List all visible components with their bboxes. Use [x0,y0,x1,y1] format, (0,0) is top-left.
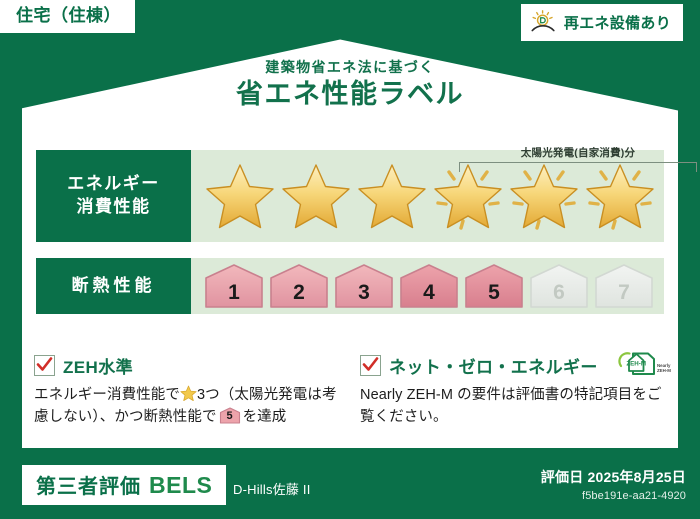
insulation-level-badge: 6 [528,263,590,309]
third-party-evaluation-label: 第三者評価 [36,470,141,499]
evaluation-info: 評価日 2025年8月25日 f5be191e-aa21-4920 [541,467,686,502]
zeh-body-part3: を達成 [243,409,287,425]
insulation-level-inline-badge: 5 [219,407,241,424]
insulation-level-value: 5 [463,282,525,303]
energy-performance-row: エネルギー 消費性能 太陽光発電(自家消費)分 [36,150,664,242]
performance-rows: エネルギー 消費性能 太陽光発電(自家消費)分 [36,150,664,314]
star-icon [180,385,197,402]
insulation-level-value: 7 [593,282,655,303]
insulation-rating-area: 1 2 3 4 5 [191,258,664,314]
solar-bracket [459,162,697,172]
page-title: 省エネ性能ラベル [0,79,700,110]
checkmark-icon [34,355,55,376]
energy-label-line1: エネルギー [67,173,160,196]
bels-certification-box: 第三者評価 BELS [22,465,226,505]
insulation-levels: 1 2 3 4 5 [191,263,655,309]
solar-sun-icon [530,9,557,35]
net-zero-energy-note: ネット・ゼロ・エネルギー ZEH-M Nearly ZEH-M Nearly Z… [360,352,668,429]
insulation-level-badge: 1 [203,263,265,309]
solar-annotation-label: 太陽光発電(自家消費)分 [459,148,697,159]
energy-label-line2: 消費性能 [77,196,151,219]
insulation-level-value: 2 [268,282,330,303]
insulation-level-value: 1 [203,282,265,303]
insulation-level-badge: 7 [593,263,655,309]
solar-generation-annotation: 太陽光発電(自家消費)分 [459,148,697,172]
evaluation-id: f5be191e-aa21-4920 [541,490,686,502]
zeh-note-title: ZEH水準 [63,353,133,378]
checkmark-icon [360,355,381,376]
svg-text:ZEH-M: ZEH-M [657,368,671,373]
building-name: D-Hills佐藤 II [233,479,311,498]
zeh-standard-note: ZEH水準 エネルギー消費性能で3つ（太陽光発電は考慮しない）、かつ断熱性能で5… [34,352,342,429]
inline-badge-value: 5 [219,407,241,424]
star-icon [355,160,429,232]
energy-performance-label: エネルギー 消費性能 [36,150,191,242]
zeh-note-header: ZEH水準 [34,352,342,378]
star-icon [279,160,353,232]
net-zero-note-body: Nearly ZEH-M の要件は評価書の特記項目をご覧ください。 [360,384,668,429]
insulation-level-badge: 4 [398,263,460,309]
energy-rating-area: 太陽光発電(自家消費)分 [191,150,664,242]
building-type-tab: 住宅（住棟） [0,0,135,33]
title-subtitle: 建築物省エネ法に基づく [0,60,700,75]
renewable-equipment-badge: 再エネ設備あり [521,4,683,41]
insulation-level-badge: 3 [333,263,395,309]
zeh-body-part1: エネルギー消費性能で [34,387,180,403]
footer-bar: 第三者評価 BELS D-Hills佐藤 II 評価日 2025年8月25日 f… [0,457,700,519]
star-icon [203,160,277,232]
zeh-m-logo: ZEH-M Nearly ZEH-M [610,350,672,380]
notes-section: ZEH水準 エネルギー消費性能で3つ（太陽光発電は考慮しない）、かつ断熱性能で5… [34,352,668,429]
insulation-performance-label: 断熱性能 [36,258,191,314]
insulation-level-badge: 2 [268,263,330,309]
net-zero-note-header: ネット・ゼロ・エネルギー ZEH-M Nearly ZEH-M [360,352,668,378]
insulation-level-badge: 5 [463,263,525,309]
insulation-level-value: 3 [333,282,395,303]
insulation-level-value: 6 [528,282,590,303]
energy-performance-label: ハウスコム 住宅（住棟） 再エネ設備あり 建築物省エネ法に基づく 省エネ性能ラベ… [0,0,700,519]
zeh-note-body: エネルギー消費性能で3つ（太陽光発電は考慮しない）、かつ断熱性能で5を達成 [34,384,342,429]
bels-label: BELS [149,472,212,499]
insulation-performance-row: 断熱性能 1 [36,258,664,314]
title-block: 建築物省エネ法に基づく 省エネ性能ラベル [0,60,700,110]
svg-text:ZEH-M: ZEH-M [626,361,646,368]
net-zero-note-title: ネット・ゼロ・エネルギー [389,353,598,378]
evaluation-date: 評価日 2025年8月25日 [541,467,686,487]
insulation-label-text: 断熱性能 [72,275,156,298]
insulation-level-value: 4 [398,282,460,303]
renewable-badge-label: 再エネ設備あり [564,12,671,33]
